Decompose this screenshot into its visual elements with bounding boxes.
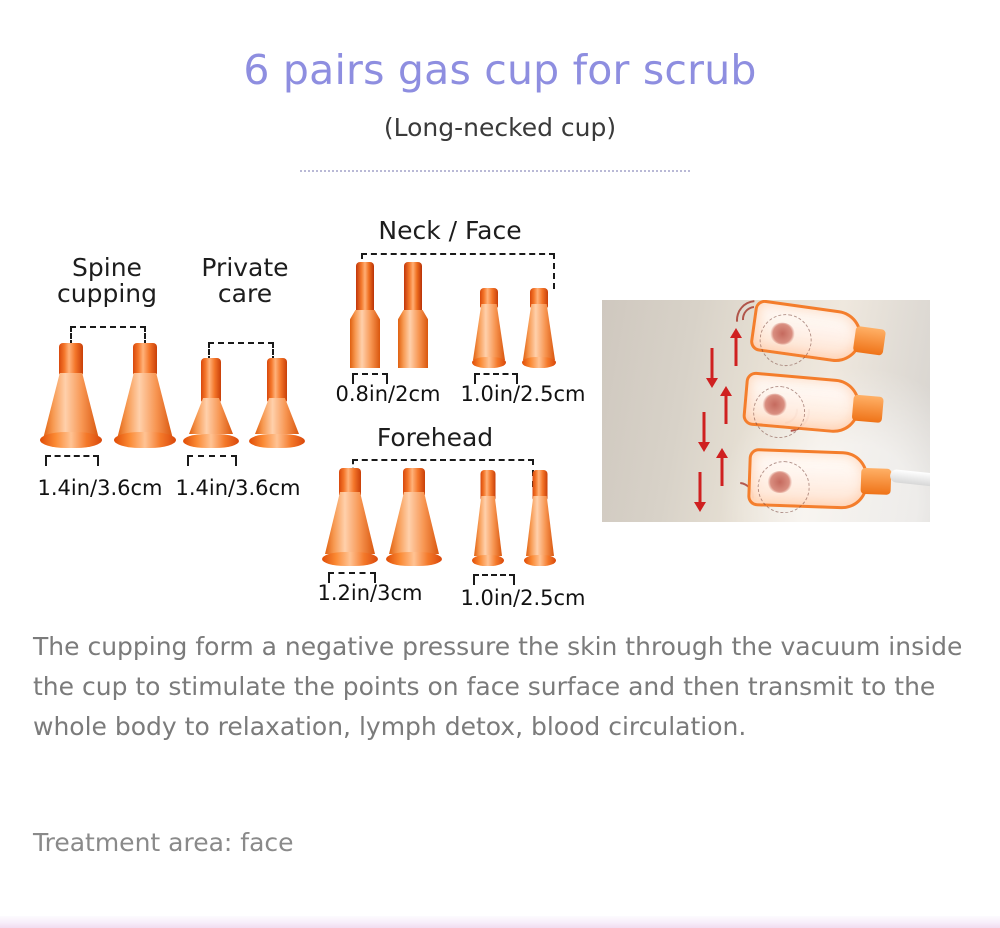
cup-rim: [249, 434, 305, 448]
cup-body: [117, 373, 173, 439]
arrow-head: [720, 386, 732, 396]
cup-body: [398, 310, 428, 368]
cup-forehead-large-1: [322, 468, 378, 566]
device-nozzle: [852, 394, 884, 423]
cup-body: [389, 492, 439, 554]
dimension-label-forehead-large: 1.2in/3cm: [300, 581, 440, 605]
cupping-device-middle: [742, 371, 862, 435]
cup-forehead-large-2: [386, 468, 442, 566]
cup-neck: [59, 343, 83, 375]
arrow-shaft: [703, 412, 706, 442]
arrow-head: [716, 448, 728, 458]
cup-forehead-small-2: [524, 470, 556, 566]
treatment-area-text: Treatment area: face: [33, 828, 294, 857]
cup-private-1: [183, 358, 239, 448]
arrow-shaft: [735, 336, 738, 366]
dimension-label-private: 1.4in/3.6cm: [158, 476, 318, 500]
dimension-label-neck-small: 0.8in/2cm: [318, 382, 458, 406]
arrow-head: [694, 502, 706, 512]
cup-rim: [114, 432, 176, 448]
cup-spine-2: [114, 343, 176, 448]
measure-tick-left: [187, 455, 189, 466]
cupping-device-bottom: [747, 448, 869, 510]
cup-neck-short-1: [472, 288, 506, 368]
cup-neck: [133, 343, 157, 375]
cup-body: [526, 496, 554, 556]
cup-neck: [339, 468, 361, 496]
group-label-private-care: Private care: [165, 255, 325, 308]
dimension-label-forehead-small: 1.0in/2.5cm: [448, 586, 598, 610]
product-photo: [602, 300, 930, 522]
cup-neck: [267, 358, 287, 402]
suction-ring: [756, 311, 815, 370]
bracket-leg-right: [553, 253, 555, 289]
group-label-forehead: Forehead: [340, 425, 530, 451]
cup-body: [523, 304, 555, 360]
measure-tick-right: [513, 574, 515, 585]
cup-neck: [403, 468, 425, 496]
arrow-head: [698, 442, 710, 452]
cup-neck-tall-1: [348, 262, 382, 368]
cup-body: [350, 310, 380, 368]
cup-neck: [201, 358, 221, 402]
measure-spine: [45, 455, 99, 466]
cup-rim: [40, 432, 102, 448]
cup-rim: [183, 434, 239, 448]
bracket-bar: [352, 459, 534, 461]
group-label-neck-face: Neck / Face: [355, 218, 545, 244]
measure-tick-right: [97, 455, 99, 466]
dimension-label-spine: 1.4in/3.6cm: [20, 476, 180, 500]
cup-body: [189, 398, 233, 434]
cup-private-2: [249, 358, 305, 448]
device-nozzle: [861, 468, 892, 495]
cup-rim: [524, 555, 556, 566]
dimension-label-neck-large: 1.0in/2.5cm: [448, 382, 598, 406]
cup-neck-tall-2: [396, 262, 430, 368]
cup-spine-1: [40, 343, 102, 448]
suction-ring: [757, 461, 811, 515]
measure-tick-left: [473, 574, 475, 585]
bracket-neck-face: [361, 253, 555, 291]
cup-rim: [472, 555, 504, 566]
dotted-divider: [300, 170, 690, 172]
arrow-shaft: [711, 348, 714, 378]
air-tube: [889, 469, 930, 488]
cup-forehead-small-1: [472, 470, 504, 566]
cup-neck: [356, 262, 374, 314]
arrow-shaft: [699, 472, 702, 502]
cup-body: [474, 496, 502, 556]
bracket-bar: [361, 253, 555, 255]
arrow-shaft: [725, 394, 728, 424]
page-subtitle: (Long-necked cup): [0, 113, 1000, 142]
measure-private: [187, 455, 237, 466]
cup-body: [43, 373, 99, 439]
measure-forehead-small: [473, 574, 515, 585]
cup-body: [255, 398, 299, 434]
measure-tick-right: [235, 455, 237, 466]
measure-tick-left: [45, 455, 47, 466]
bracket-bar: [70, 326, 146, 328]
cup-body: [325, 492, 375, 554]
cup-rim: [472, 357, 506, 368]
bottom-accent-band: [0, 916, 1000, 928]
arrow-head: [706, 378, 718, 388]
cup-neck: [533, 470, 548, 500]
infographic-page: 6 pairs gas cup for scrub (Long-necked c…: [0, 0, 1000, 928]
arrow-shaft: [721, 456, 724, 486]
cup-rim: [322, 552, 378, 566]
cup-neck: [481, 470, 496, 500]
cup-rim: [522, 357, 556, 368]
suction-ring: [751, 383, 807, 439]
description-paragraph: The cupping form a negative pressure the…: [33, 627, 978, 747]
cup-body: [473, 304, 505, 360]
page-title: 6 pairs gas cup for scrub: [0, 46, 1000, 94]
device-nozzle: [853, 326, 886, 356]
cup-neck: [404, 262, 422, 314]
cup-neck-short-2: [522, 288, 556, 368]
bracket-forehead: [352, 459, 534, 489]
bracket-bar: [208, 342, 274, 344]
cup-rim: [386, 552, 442, 566]
cupping-device-top: [749, 300, 865, 365]
